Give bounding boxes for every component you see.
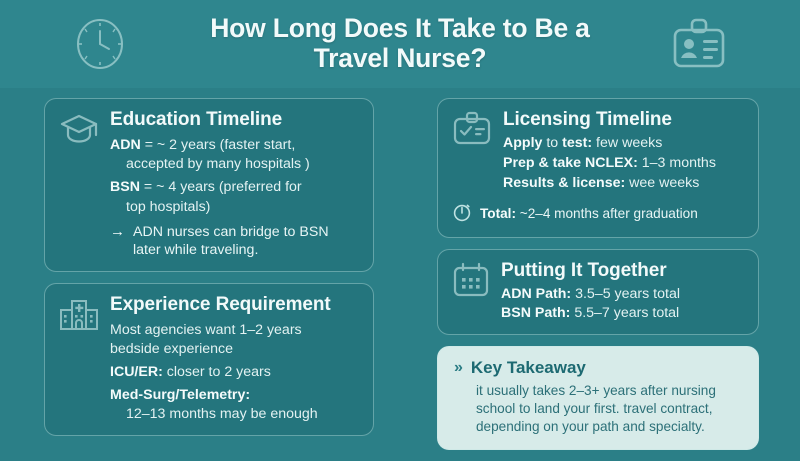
- education-bsn-value: = ~ 4 years (preferred for: [140, 179, 302, 195]
- licensing-apply-label2: test:: [562, 135, 592, 151]
- hospital-icon: [59, 296, 99, 339]
- right-column: Licensing Timeline Apply to test: few we…: [437, 98, 759, 461]
- together-bsn-label: BSN Path:: [501, 305, 570, 321]
- education-bridge-line1: ADN nurses can bridge to BSN: [133, 224, 329, 240]
- experience-line-medsurg: Med-Surg/Telemetry:: [110, 386, 359, 404]
- experience-medsurg-label: Med-Surg/Telemetry:: [110, 387, 250, 403]
- education-adn-label: ADN: [110, 137, 141, 153]
- education-line-adn-cont: accepted by many hospitals ): [110, 155, 359, 173]
- licensing-total-value: ~2–4 months after graduation: [516, 206, 698, 221]
- licensing-apply-mid: to: [542, 135, 562, 151]
- card-title: Licensing Timeline: [503, 109, 744, 131]
- together-adn-label: ADN Path:: [501, 286, 571, 302]
- licensing-apply-value: few weeks: [592, 135, 662, 151]
- graduation-cap-icon: [59, 111, 99, 152]
- licensing-total-label: Total:: [480, 206, 516, 221]
- licensing-results-label: Results & license:: [503, 175, 625, 191]
- experience-icuer-label: ICU/ER:: [110, 364, 163, 380]
- key-takeaway-text: it usually takes 2–3+ years after nursin…: [454, 382, 744, 436]
- education-bridge-note: → ADN nurses can bridge to BSN later whi…: [110, 223, 359, 259]
- card-title: Putting It Together: [501, 260, 744, 282]
- page-header: How Long Does It Take to Be a Travel Nur…: [0, 0, 800, 88]
- card-title: Experience Requirement: [110, 294, 359, 316]
- card-education-timeline: Education Timeline ADN = ~ 2 years (fast…: [44, 98, 374, 272]
- key-takeaway-header: » Key Takeaway: [454, 358, 744, 378]
- stopwatch-icon: [452, 202, 472, 225]
- education-bridge-note-text: ADN nurses can bridge to BSN later while…: [133, 223, 329, 259]
- together-row-adn: ADN Path: 3.5–5 years total: [501, 285, 744, 303]
- licensing-nclex-value: 1–3 months: [638, 155, 716, 171]
- id-card-check-icon: [452, 111, 492, 152]
- card-key-takeaway: » Key Takeaway it usually takes 2–3+ yea…: [437, 346, 759, 450]
- card-experience-requirement: Experience Requirement Most agencies wan…: [44, 283, 374, 437]
- licensing-apply-label: Apply: [503, 135, 542, 151]
- double-chevron-right-icon: »: [454, 359, 462, 377]
- licensing-row-results: Results & license: wee weeks: [503, 174, 744, 192]
- left-column: Education Timeline ADN = ~ 2 years (fast…: [44, 98, 374, 447]
- calendar-icon: [452, 262, 490, 303]
- education-bsn-label: BSN: [110, 179, 140, 195]
- key-takeaway-title: Key Takeaway: [471, 358, 586, 378]
- licensing-row-apply: Apply to test: few weeks: [503, 134, 744, 152]
- card-licensing-timeline: Licensing Timeline Apply to test: few we…: [437, 98, 759, 238]
- card-putting-it-together: Putting It Together ADN Path: 3.5–5 year…: [437, 249, 759, 335]
- together-row-bsn: BSN Path: 5.5–7 years total: [501, 304, 744, 322]
- experience-icuer-value: closer to 2 years: [163, 364, 271, 380]
- education-adn-value: = ~ 2 years (faster start,: [141, 137, 296, 153]
- experience-line-agencies: Most agencies want 1–2 years: [110, 321, 359, 339]
- page-title-line1: How Long Does It Take to Be a: [210, 13, 589, 43]
- experience-line-icuer: ICU/ER: closer to 2 years: [110, 363, 359, 381]
- licensing-results-value: wee weeks: [625, 175, 699, 191]
- experience-medsurg-value: 12–13 months may be enough: [110, 405, 359, 423]
- education-bridge-line2: later while traveling.: [133, 242, 258, 258]
- page-title-line2: Travel Nurse?: [314, 43, 487, 73]
- education-line-bsn-cont: top hospitals): [110, 198, 359, 216]
- together-bsn-value: 5.5–7 years total: [570, 305, 679, 321]
- education-line-adn: ADN = ~ 2 years (faster start,: [110, 136, 359, 154]
- licensing-nclex-label: Prep & take NCLEX:: [503, 155, 638, 171]
- arrow-right-icon: →: [110, 223, 125, 241]
- together-adn-value: 3.5–5 years total: [571, 286, 680, 302]
- page-title: How Long Does It Take to Be a Travel Nur…: [210, 14, 589, 74]
- licensing-row-nclex: Prep & take NCLEX: 1–3 months: [503, 154, 744, 172]
- education-line-bsn: BSN = ~ 4 years (preferred for: [110, 178, 359, 196]
- licensing-total-row: Total: ~2–4 months after graduation: [452, 202, 744, 225]
- licensing-total-text: Total: ~2–4 months after graduation: [480, 206, 698, 221]
- experience-line-bedside: bedside experience: [110, 340, 359, 358]
- card-title: Education Timeline: [110, 109, 359, 131]
